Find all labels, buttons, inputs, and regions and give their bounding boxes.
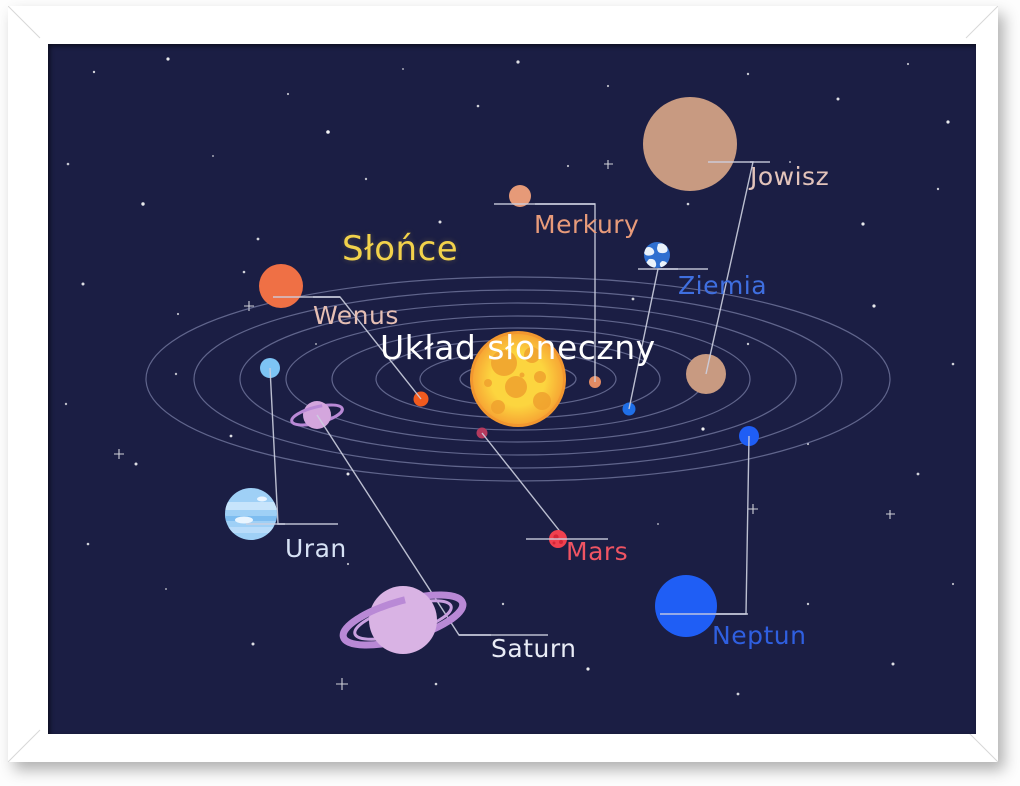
swatch-saturn (338, 585, 468, 656)
label-jowisz: Jowisz (750, 162, 829, 191)
poster-title: Układ słoneczny (380, 328, 656, 367)
label-wenus: Wenus (313, 301, 399, 330)
label-mars: Mars (566, 537, 628, 566)
label-uran: Uran (285, 534, 347, 563)
picture-frame: Słońce Układ słoneczny Merkury Wenus Zie… (8, 6, 998, 762)
label-neptun: Neptun (712, 621, 806, 650)
label-merkury: Merkury (534, 210, 639, 239)
swatch-neptun (655, 575, 717, 637)
label-sun: Słońce (342, 229, 458, 269)
swatch-ziemia (644, 242, 670, 268)
solar-system-illustration (48, 44, 976, 734)
label-saturn: Saturn (491, 634, 577, 663)
label-ziemia: Ziemia (678, 271, 767, 300)
swatch-wenus (259, 264, 303, 308)
poster-stage: Słońce Układ słoneczny Merkury Wenus Zie… (0, 0, 1020, 786)
swatch-uran (225, 488, 277, 540)
poster-artwork: Słońce Układ słoneczny Merkury Wenus Zie… (48, 44, 976, 734)
swatch-jowisz (643, 97, 737, 191)
